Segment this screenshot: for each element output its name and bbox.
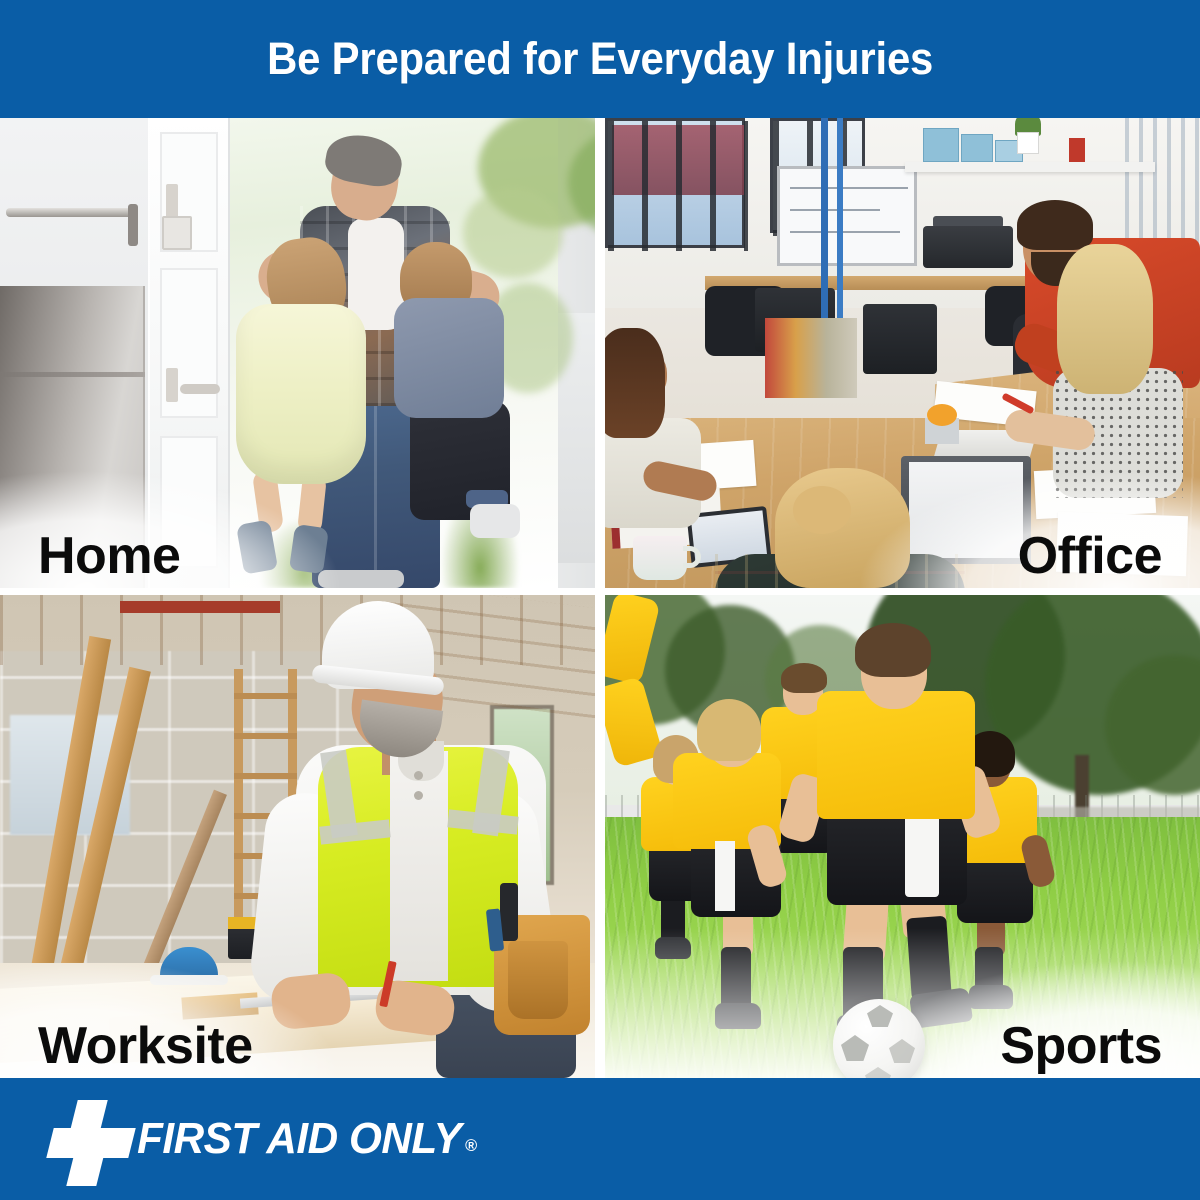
file-folders <box>765 318 857 398</box>
boy-shirt <box>394 298 504 418</box>
boy-shoe <box>470 504 520 538</box>
flower <box>927 404 957 426</box>
refrigerator-handle <box>128 204 138 246</box>
door-lock <box>162 216 192 250</box>
plant-pot <box>1017 132 1039 154</box>
storage-box <box>961 134 993 162</box>
hand-tool <box>500 883 518 941</box>
door-handle <box>180 384 220 394</box>
worksite-photo <box>0 595 595 1078</box>
coworker-hair <box>775 468 910 588</box>
tile-sports[interactable]: Sports <box>605 595 1200 1078</box>
category-grid: Home <box>0 118 1200 1078</box>
registered-trademark-icon: ® <box>465 1136 477 1156</box>
printer <box>923 226 1013 268</box>
whiteboard <box>777 166 917 266</box>
brand-logo[interactable]: FIRST AID ONLY ® <box>48 1098 484 1180</box>
coworker-hair <box>605 328 665 438</box>
office-photo <box>605 118 1200 588</box>
tile-label-sports: Sports <box>1000 1020 1162 1072</box>
girl-dress <box>236 304 366 484</box>
tile-label-office: Office <box>1018 530 1162 582</box>
sports-photo <box>605 595 1200 1078</box>
poster: Be Prepared for Everyday Injuries <box>0 0 1200 1200</box>
girl-shoe <box>289 524 329 574</box>
first-aid-cross-icon <box>48 1098 122 1180</box>
laptop-screen <box>909 462 1023 558</box>
tile-label-worksite: Worksite <box>38 1020 253 1072</box>
tile-label-home: Home <box>38 530 180 582</box>
footer-bar: FIRST AID ONLY ® <box>0 1078 1200 1200</box>
home-photo <box>0 118 595 588</box>
coffee-mug <box>633 536 687 580</box>
storage-box <box>923 128 959 162</box>
coworker-hair-bun <box>793 486 851 534</box>
tile-office[interactable]: Office <box>605 118 1200 588</box>
tile-worksite[interactable]: Worksite <box>0 595 595 1078</box>
wall-shelf <box>905 162 1155 172</box>
refrigerator-handle <box>6 208 138 217</box>
office-window <box>605 118 745 248</box>
coworker-hair <box>1057 244 1153 394</box>
brand-wordmark: FIRST AID ONLY <box>137 1114 461 1164</box>
tile-home[interactable]: Home <box>0 118 595 588</box>
coworker-hair <box>1017 200 1093 250</box>
header-banner: Be Prepared for Everyday Injuries <box>0 0 1200 118</box>
pen-cup <box>1069 138 1085 162</box>
tool-belt-pocket <box>508 941 568 1019</box>
front-door <box>150 118 230 588</box>
monitor <box>863 304 937 374</box>
brand-name: FIRST AID ONLY ® <box>137 1114 477 1164</box>
page-title: Be Prepared for Everyday Injuries <box>267 33 933 85</box>
player-main-boy <box>605 595 653 763</box>
father-shoe <box>318 570 404 588</box>
steel-beam <box>120 601 280 613</box>
